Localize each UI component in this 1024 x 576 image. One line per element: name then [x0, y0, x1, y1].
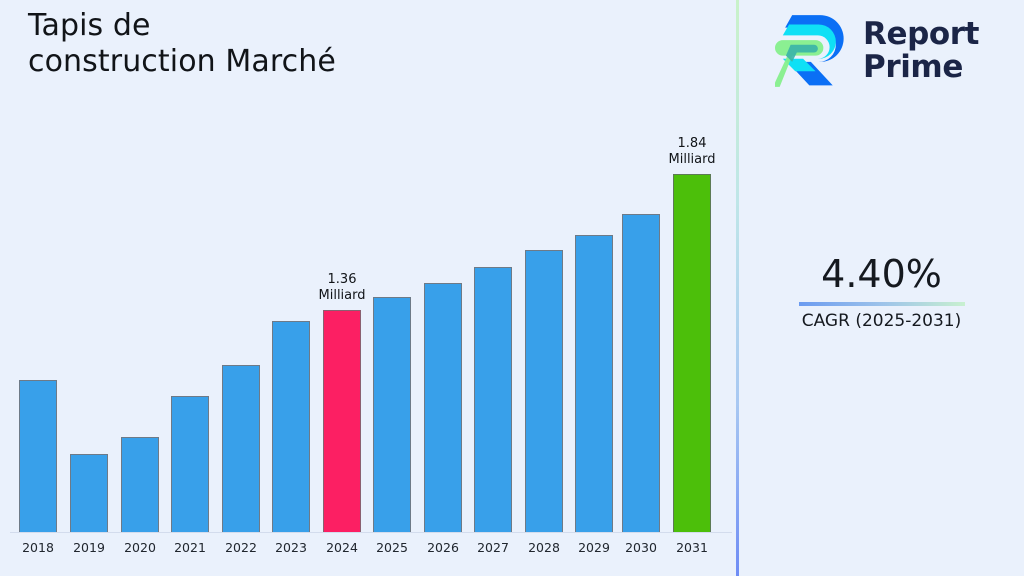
brand-panel: Report Prime 4.40% CAGR (2025-2031)	[739, 0, 1024, 576]
cagr-block: 4.40% CAGR (2025-2031)	[739, 252, 1024, 332]
cagr-divider-rule	[799, 302, 965, 306]
logo-wordmark: Report Prime	[863, 18, 979, 84]
bar-chart-plot: 2018201920202021202220231.36 Milliard202…	[0, 0, 737, 576]
bar-2021[interactable]	[171, 396, 209, 532]
x-axis-label-2025: 2025	[367, 540, 417, 555]
x-axis-label-2029: 2029	[569, 540, 619, 555]
x-axis-label-2019: 2019	[64, 540, 114, 555]
bar-2024[interactable]	[323, 310, 361, 532]
x-axis-label-2026: 2026	[418, 540, 468, 555]
x-axis-label-2021: 2021	[165, 540, 215, 555]
bar-2031[interactable]	[673, 174, 711, 532]
bar-2020[interactable]	[121, 437, 159, 532]
chart-panel: Tapis de construction Marché 20182019202…	[0, 0, 737, 576]
x-axis-label-2024: 2024	[317, 540, 367, 555]
bar-2026[interactable]	[424, 283, 462, 532]
bar-2028[interactable]	[525, 250, 563, 532]
report-prime-logo: Report Prime	[775, 10, 979, 92]
bar-2022[interactable]	[222, 365, 260, 532]
x-axis-label-2027: 2027	[468, 540, 518, 555]
report-prime-logo-mark	[775, 10, 853, 92]
x-axis-label-2020: 2020	[115, 540, 165, 555]
x-axis-label-2018: 2018	[13, 540, 63, 555]
x-axis-label-2028: 2028	[519, 540, 569, 555]
cagr-caption: CAGR (2025-2031)	[739, 310, 1024, 332]
x-axis-label-2023: 2023	[266, 540, 316, 555]
x-axis-label-2030: 2030	[616, 540, 666, 555]
bar-2025[interactable]	[373, 297, 411, 532]
bar-2027[interactable]	[474, 267, 512, 532]
bar-2019[interactable]	[70, 454, 108, 532]
bar-2023[interactable]	[272, 321, 310, 532]
x-axis-label-2031: 2031	[667, 540, 717, 555]
x-axis-label-2022: 2022	[216, 540, 266, 555]
cagr-value: 4.40%	[739, 252, 1024, 296]
bar-2018[interactable]	[19, 380, 57, 532]
x-axis-line	[10, 532, 732, 533]
bar-value-label-2031: 1.84 Milliard	[647, 136, 737, 168]
bar-2030[interactable]	[622, 214, 660, 532]
bar-2029[interactable]	[575, 235, 613, 532]
